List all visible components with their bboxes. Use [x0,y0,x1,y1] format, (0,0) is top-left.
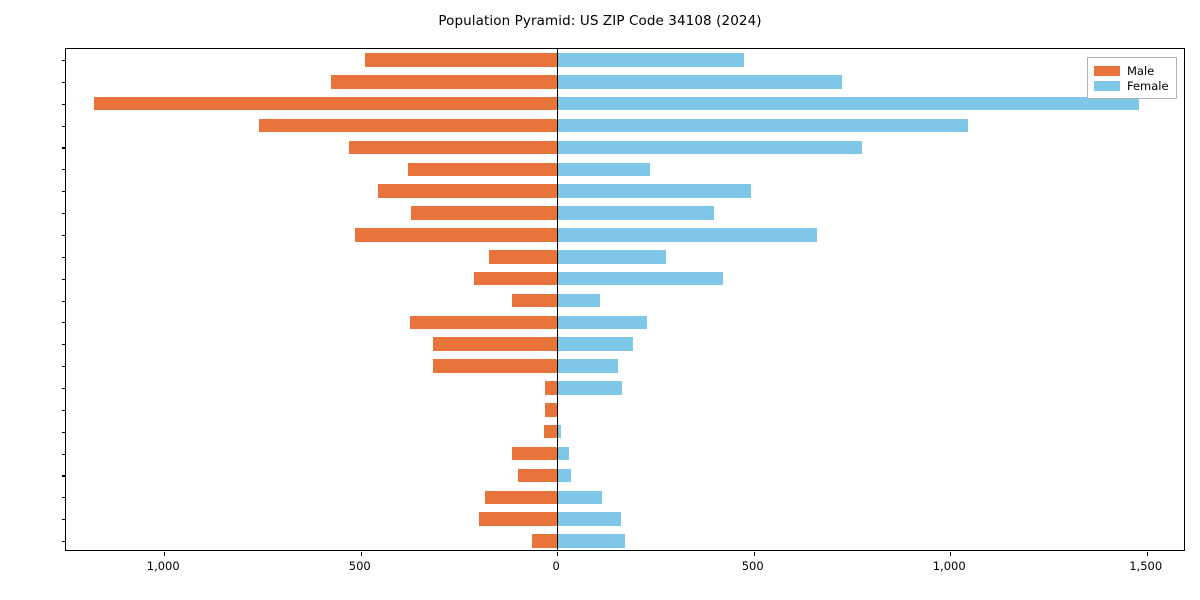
legend-swatch-female [1094,81,1120,91]
x-axis-tick-mark [164,552,165,556]
y-axis-tick-mark [62,541,66,542]
bar-male[interactable] [331,75,557,89]
legend-label: Male [1127,64,1154,78]
bar-row [66,272,1184,286]
y-axis-tick-mark [62,104,66,105]
legend-swatch-male [1094,66,1120,76]
x-axis-tick-label: 500 [742,559,764,573]
bar-female[interactable] [557,206,713,220]
bar-row [66,97,1184,111]
population-pyramid-figure: Population Pyramid: US ZIP Code 34108 (2… [0,0,1200,600]
bar-female[interactable] [557,119,968,133]
x-axis-tick-label: 0 [553,559,560,573]
x-axis-tick-mark [950,552,951,556]
y-axis-tick-mark [62,169,66,170]
y-axis-tick-mark [62,388,66,389]
bar-female[interactable] [557,381,622,395]
x-axis-tick-mark [1147,552,1148,556]
bar-female[interactable] [557,469,570,483]
bar-male[interactable] [410,316,557,330]
y-axis-tick-mark [62,475,66,476]
y-axis-tick-mark [62,60,66,61]
bar-row [66,53,1184,67]
bar-row [66,119,1184,133]
bar-row [66,359,1184,373]
y-axis-tick-mark [62,322,66,323]
bar-row [66,75,1184,89]
bar-male[interactable] [408,163,557,177]
bar-male[interactable] [545,403,557,417]
x-axis-tick-mark [557,552,558,556]
y-axis-tick-mark [62,454,66,455]
y-axis-tick-mark [62,126,66,127]
bar-female[interactable] [557,337,633,351]
bar-male[interactable] [259,119,558,133]
y-axis-tick-mark [62,191,66,192]
bar-female[interactable] [557,316,647,330]
y-axis-tick-mark [62,235,66,236]
y-axis-tick-mark [62,344,66,345]
y-axis-tick-mark [62,213,66,214]
bar-female[interactable] [557,141,862,155]
bar-row [66,381,1184,395]
bar-female[interactable] [557,294,600,308]
bar-male[interactable] [355,228,557,242]
bar-male[interactable] [433,337,558,351]
bar-female[interactable] [557,97,1139,111]
bar-male[interactable] [94,97,558,111]
bar-female[interactable] [557,163,649,177]
plot-area [65,48,1185,551]
bar-male[interactable] [349,141,557,155]
bar-row [66,184,1184,198]
bar-male[interactable] [479,512,557,526]
bars-layer [66,49,1184,550]
x-axis-tick-mark [754,552,755,556]
bar-male[interactable] [474,272,557,286]
bar-male[interactable] [512,447,557,461]
bar-female[interactable] [557,250,666,264]
bar-male[interactable] [433,359,558,373]
x-axis-tick-mark [361,552,362,556]
bar-male[interactable] [485,491,557,505]
bar-female[interactable] [557,53,744,67]
legend-entry[interactable]: Female [1094,78,1169,93]
bar-row [66,512,1184,526]
bar-row [66,141,1184,155]
bar-female[interactable] [557,75,842,89]
bar-male[interactable] [518,469,557,483]
bar-row [66,534,1184,548]
bar-male[interactable] [378,184,557,198]
y-axis-tick-mark [62,410,66,411]
bar-female[interactable] [557,447,568,461]
bar-row [66,447,1184,461]
y-axis-tick-mark [62,82,66,83]
bar-male[interactable] [512,294,557,308]
bar-male[interactable] [532,534,558,548]
bar-male[interactable] [545,381,557,395]
bar-female[interactable] [557,228,817,242]
x-axis-tick-label: 1,500 [1129,559,1162,573]
y-axis-tick-mark [62,147,66,148]
bar-row [66,337,1184,351]
legend[interactable]: MaleFemale [1087,57,1177,99]
x-axis-tick-label: 1,000 [147,559,180,573]
bar-female[interactable] [557,534,625,548]
y-axis-tick-mark [62,497,66,498]
bar-row [66,316,1184,330]
bar-female[interactable] [557,512,621,526]
bar-female[interactable] [557,491,602,505]
y-axis-tick-mark [62,279,66,280]
chart-title: Population Pyramid: US ZIP Code 34108 (2… [0,13,1200,29]
bar-row [66,425,1184,439]
legend-label: Female [1127,79,1169,93]
bar-female[interactable] [557,272,722,286]
bar-row [66,403,1184,417]
bar-row [66,206,1184,220]
x-axis-tick-label: 500 [349,559,371,573]
bar-female[interactable] [557,184,750,198]
legend-entry[interactable]: Male [1094,63,1169,78]
y-axis-tick-mark [62,432,66,433]
bar-male[interactable] [411,206,557,220]
y-axis-tick-mark [62,301,66,302]
bar-row [66,228,1184,242]
zero-axis-line [557,49,558,550]
y-axis-tick-mark [62,519,66,520]
x-axis-tick-label: 1,000 [933,559,966,573]
y-axis-tick-mark [62,257,66,258]
bar-row [66,294,1184,308]
bar-female[interactable] [557,359,618,373]
bar-male[interactable] [489,250,557,264]
bar-row [66,163,1184,177]
bar-row [66,469,1184,483]
bar-male[interactable] [365,53,558,67]
bar-row [66,250,1184,264]
bar-row [66,491,1184,505]
y-axis-tick-mark [62,366,66,367]
bar-male[interactable] [544,425,557,439]
